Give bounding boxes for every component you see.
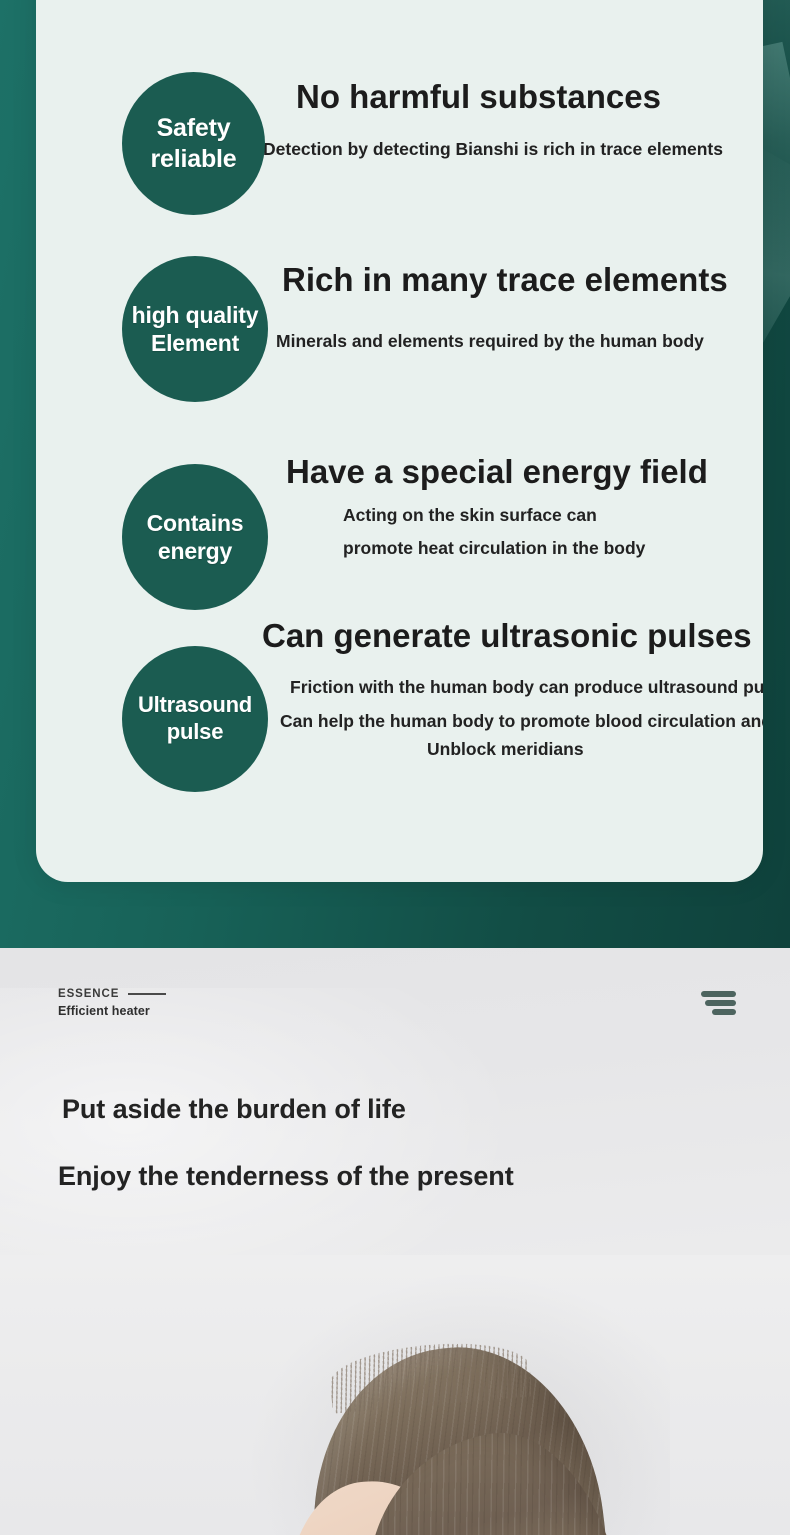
badge-line: energy	[158, 537, 232, 565]
feature-card: Safety reliable No harmful substances De…	[36, 0, 763, 882]
brand-top-row: ESSENCE	[58, 988, 166, 1000]
hamburger-bar-top	[701, 991, 736, 997]
badge-line: Element	[151, 329, 239, 357]
feature-title-4: Can generate ultrasonic pulses	[262, 617, 752, 655]
feature-badge-high-quality-element: high quality Element	[122, 256, 268, 402]
feature-subtitle-2: Minerals and elements required by the hu…	[276, 331, 704, 352]
product-detail-page: Safety reliable No harmful substances De…	[0, 0, 790, 1535]
badge-line: Contains	[147, 509, 244, 537]
badge-line: reliable	[151, 144, 237, 175]
feature-subtitle-4-line-2: Can help the human body to promote blood…	[280, 711, 763, 732]
brand-tagline: Efficient heater	[58, 1004, 166, 1018]
brand-name: ESSENCE	[58, 988, 119, 1000]
hamburger-bar-bottom	[712, 1009, 736, 1015]
feature-badge-contains-energy: Contains energy	[122, 464, 268, 610]
feature-subtitle-1: Detection by detecting Bianshi is rich i…	[263, 139, 723, 160]
feature-badge-ultrasound-pulse: Ultrasound pulse	[122, 646, 268, 792]
slogan-block: Put aside the burden of life Enjoy the t…	[58, 1094, 514, 1192]
feature-title-3: Have a special energy field	[286, 453, 708, 491]
feature-title-1: No harmful substances	[296, 78, 661, 116]
badge-line: Ultrasound	[138, 692, 252, 719]
model-portrait-photo	[0, 1255, 790, 1535]
feature-subtitle-3-line-2: promote heat circulation in the body	[343, 538, 645, 559]
feature-badge-safety-reliable: Safety reliable	[122, 72, 265, 215]
feature-subtitle-4-line-3: Unblock meridians	[427, 739, 584, 760]
features-section: Safety reliable No harmful substances De…	[0, 0, 790, 948]
hamburger-icon[interactable]	[701, 990, 743, 1020]
badge-line: Safety	[157, 113, 231, 144]
slogan-line-2: Enjoy the tenderness of the present	[58, 1161, 514, 1192]
badge-line: pulse	[167, 719, 223, 746]
feature-title-2: Rich in many trace elements	[282, 261, 728, 299]
brand-rule-divider	[128, 993, 166, 995]
badge-line: high quality	[132, 301, 259, 329]
feature-subtitle-3-line-1: Acting on the skin surface can	[343, 505, 597, 526]
slogan-line-1: Put aside the burden of life	[62, 1094, 514, 1125]
hamburger-bar-middle	[705, 1000, 736, 1006]
brand-block: ESSENCE Efficient heater	[58, 988, 166, 1018]
feature-subtitle-4-line-1: Friction with the human body can produce…	[290, 677, 763, 698]
